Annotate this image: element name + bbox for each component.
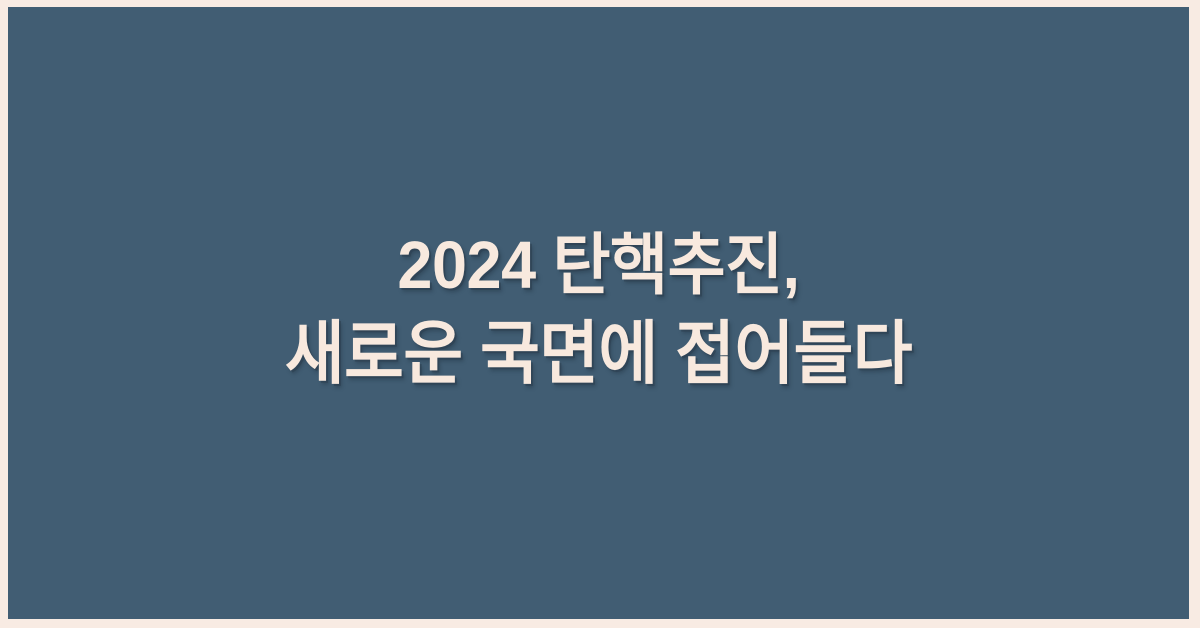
headline-block: 2024 탄핵추진, 새로운 국면에 접어들다 xyxy=(8,222,1189,404)
banner-frame: 2024 탄핵추진, 새로운 국면에 접어들다 xyxy=(0,0,1200,628)
banner-panel: 2024 탄핵추진, 새로운 국면에 접어들다 xyxy=(8,7,1189,619)
headline-line-1: 2024 탄핵추진, xyxy=(43,222,1153,310)
headline-line-2: 새로운 국면에 접어들다 xyxy=(43,310,1153,398)
